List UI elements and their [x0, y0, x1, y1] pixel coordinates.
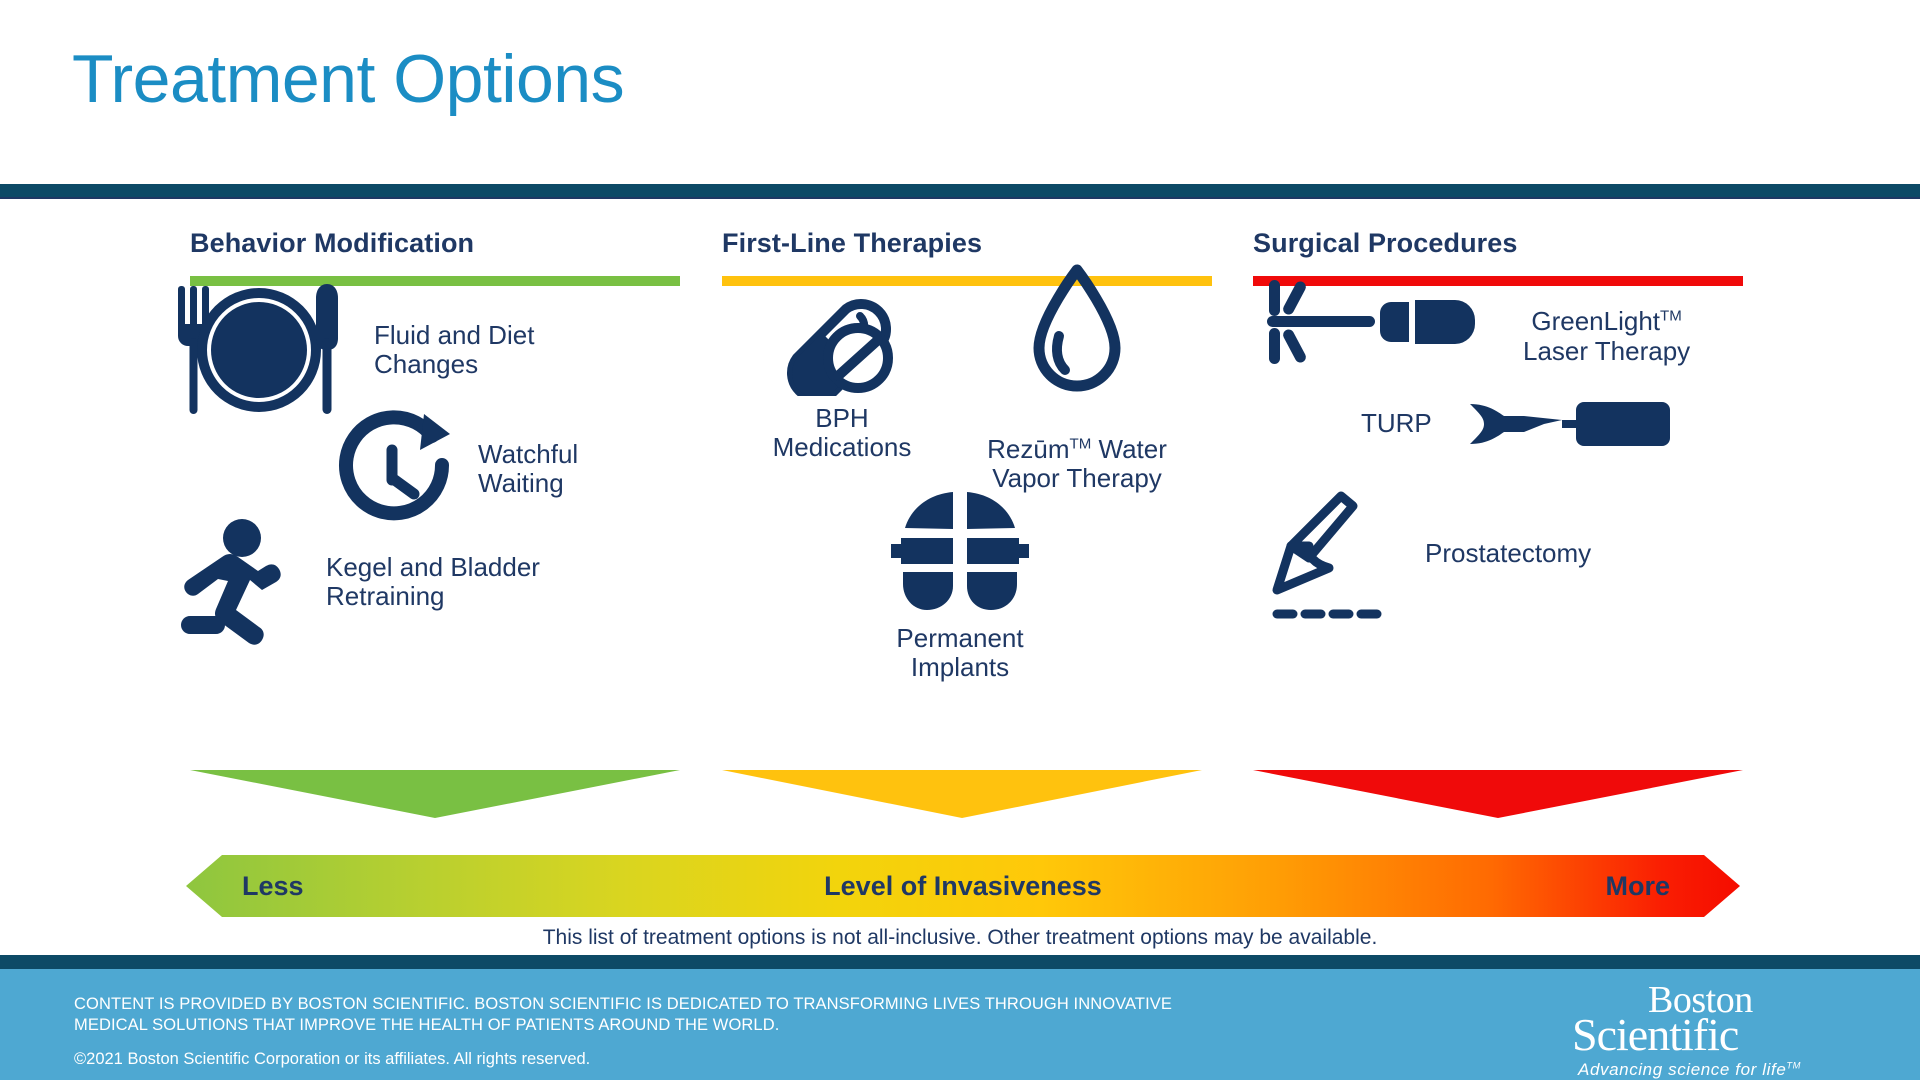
item-label: Kegel and Bladder Retraining: [326, 553, 540, 611]
item-label: Fluid and Diet Changes: [374, 321, 534, 379]
column-surgical-procedures: Surgical Procedures: [1253, 228, 1753, 286]
pill-capsule-tablet-icon: [784, 278, 900, 396]
plate-fork-knife-icon: [170, 280, 348, 420]
running-person-icon: [180, 518, 306, 646]
item-fluid-and-diet-changes[interactable]: Fluid and Diet Changes: [170, 280, 534, 420]
boston-scientific-logo: Boston Scientific Advancing science for …: [1572, 983, 1872, 1075]
invasiveness-more-label: More: [1605, 871, 1670, 902]
page-title: Treatment Options: [72, 40, 624, 118]
item-permanent-implants[interactable]: Permanent Implants: [850, 486, 1070, 682]
item-watchful-waiting[interactable]: Watchful Waiting: [332, 408, 578, 530]
resectoscope-loop-icon: [1466, 398, 1672, 450]
item-kegel-and-bladder-retraining[interactable]: Kegel and Bladder Retraining: [180, 518, 540, 646]
prostate-implant-icon: [889, 486, 1031, 616]
item-rezum-water-vapor-therapy[interactable]: RezūmTM Water Vapor Therapy: [952, 262, 1202, 493]
column-items: GreenLightTM Laser Therapy TURP: [1253, 228, 1753, 688]
column-items: Fluid and Diet Changes: [190, 228, 690, 688]
column-behavior-modification: Behavior Modification: [190, 228, 690, 286]
funnel-triangle-amber: [722, 770, 1202, 818]
trademark-sup: TM: [1660, 308, 1682, 325]
item-label: Prostatectomy: [1425, 539, 1591, 568]
clock-arrow-icon: [332, 408, 456, 530]
trademark-sup: TM: [1069, 435, 1091, 452]
item-label: Watchful Waiting: [478, 440, 578, 498]
slide-footer: CONTENT IS PROVIDED BY BOSTON SCIENTIFIC…: [0, 969, 1920, 1080]
footer-legal-text: CONTENT IS PROVIDED BY BOSTON SCIENTIFIC…: [74, 994, 1194, 1036]
slide-canvas: Treatment Options Behavior Modification: [0, 0, 1920, 1080]
logo-line-scientific: Scientific: [1572, 1014, 1872, 1056]
laser-device-icon: [1263, 276, 1477, 368]
item-turp[interactable]: TURP: [1361, 398, 1672, 450]
item-label: GreenLightTM Laser Therapy: [1523, 278, 1690, 365]
water-droplet-icon: [1027, 262, 1127, 398]
item-label-text: GreenLight: [1531, 306, 1660, 336]
disclaimer-text: This list of treatment options is not al…: [0, 926, 1920, 950]
item-label: Permanent Implants: [896, 624, 1023, 682]
footer-divider: [0, 955, 1920, 969]
item-label-text: Rezūm: [987, 434, 1069, 464]
item-prostatectomy[interactable]: Prostatectomy: [1271, 486, 1591, 622]
invasiveness-center-label: Level of Invasiveness: [186, 871, 1740, 902]
item-bph-medications[interactable]: BPH Medications: [742, 278, 942, 462]
logo-tagline-text: Advancing science for life: [1578, 1060, 1786, 1079]
item-greenlight-laser-therapy[interactable]: GreenLightTM Laser Therapy: [1263, 276, 1690, 368]
funnel-triangle-green: [190, 770, 680, 818]
item-label: TURP: [1361, 409, 1432, 438]
item-label: BPH Medications: [773, 404, 912, 462]
logo-tagline: Advancing science for lifeTM: [1572, 1060, 1872, 1080]
column-items: BPH Medications RezūmTM Water Vapor Ther…: [722, 228, 1222, 688]
scalpel-incision-icon: [1271, 486, 1383, 622]
footer-copyright: ©2021 Boston Scientific Corporation or i…: [74, 1050, 590, 1069]
funnel-triangle-red: [1253, 770, 1743, 818]
item-label: RezūmTM Water Vapor Therapy: [987, 406, 1167, 493]
invasiveness-scale-bar: Less Level of Invasiveness More: [186, 855, 1740, 917]
item-label-text-cont: Laser Therapy: [1523, 336, 1690, 366]
slide-header: Treatment Options: [0, 0, 1920, 190]
logo-trademark-sup: TM: [1786, 1061, 1801, 1071]
column-first-line-therapies: First-Line Therapies BPH Medicati: [722, 228, 1222, 286]
header-divider: [0, 184, 1920, 199]
